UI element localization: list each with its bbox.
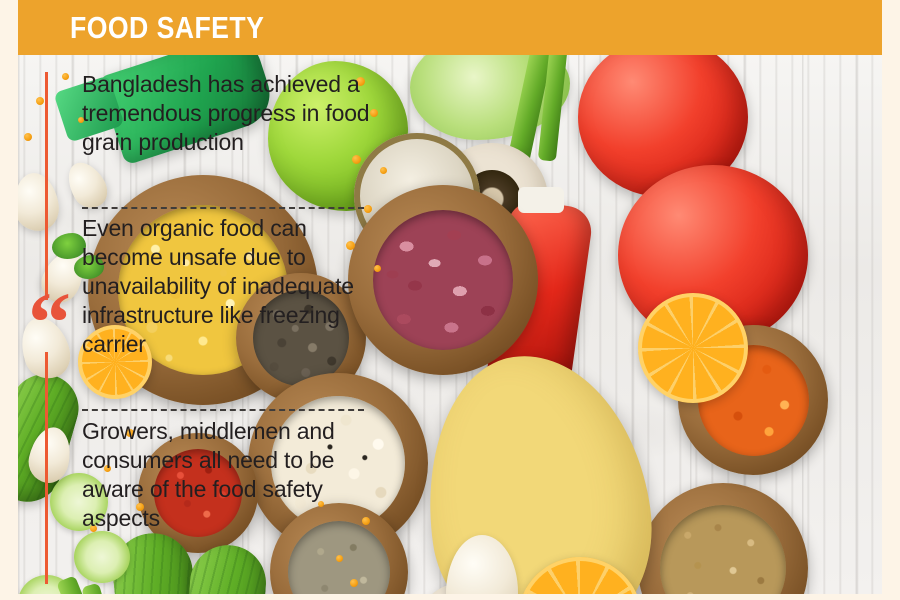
frame-edge-left [0,0,18,600]
kidney-bean-bowl-image [348,185,538,375]
lentil-speck [374,265,381,272]
frame-edge-right [882,0,900,600]
lentil-speck [336,555,343,562]
kidney-beans [373,210,514,351]
statement-3: Growers, middlemen and consumers all nee… [82,417,372,533]
statement-divider-2 [82,409,364,411]
quote-mark-icon: “ [28,294,68,350]
header-bar: FOOD SAFETY [18,0,882,55]
cucumber-slice-image [74,531,130,583]
buckwheat-groats [660,505,786,594]
page-title: FOOD SAFETY [70,11,264,44]
lentil-speck [350,579,358,587]
lentil-speck [364,205,372,213]
lentil-speck [380,167,387,174]
orange-half-image [638,293,748,403]
frame-edge-bottom [0,594,900,600]
accent-rule-bottom [45,352,48,584]
statement-1: Bangladesh has achieved a tremendous pro… [82,70,372,157]
lentil-speck [24,133,32,141]
food-safety-infographic: FOOD SAFETY “ Bangladesh has achieved a … [0,0,900,600]
accent-rule-top [45,72,48,300]
statement-2: Even organic food can become unsafe due … [82,214,372,359]
lentil-speck [36,97,44,105]
bottle-red-cap [518,187,564,213]
statement-divider-1 [82,207,364,209]
lentil-speck [62,73,69,80]
